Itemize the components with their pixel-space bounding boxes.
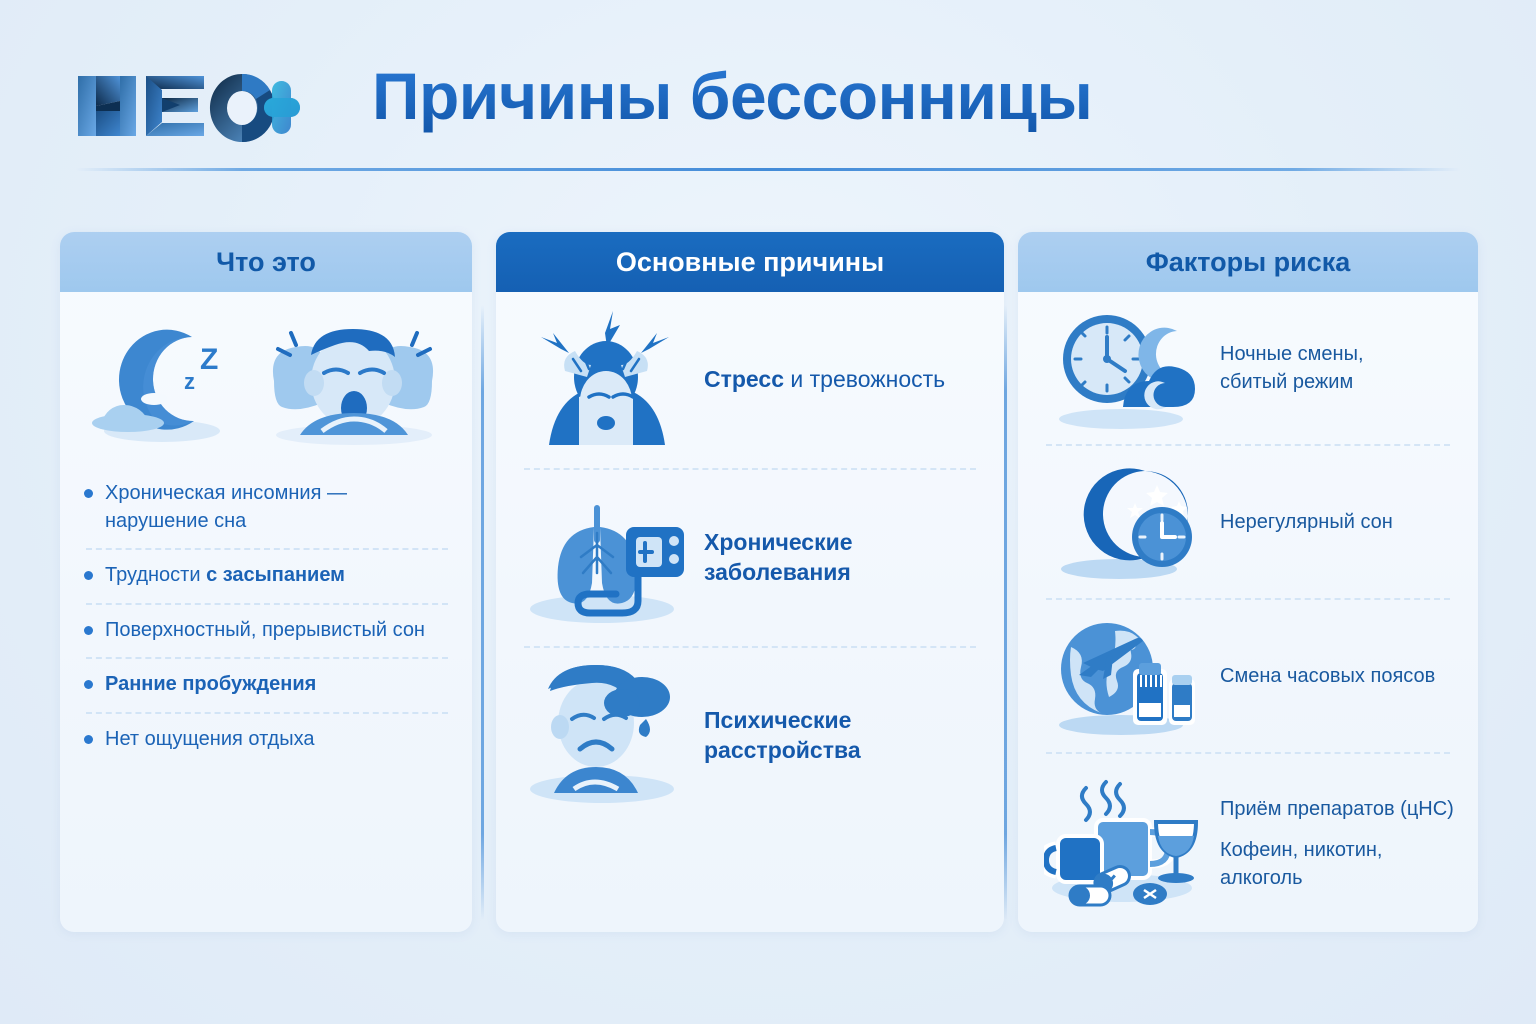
card-what-is: Что это Z z bbox=[60, 232, 472, 932]
risk-label-night-shifts: Ночные смены, сбитый режим bbox=[1220, 340, 1364, 397]
list-item: Ранние пробуждения bbox=[84, 659, 450, 712]
cause-label-chronic: Хронические заболевания bbox=[704, 528, 980, 588]
clock-moon-icon bbox=[1038, 303, 1210, 433]
list-item-label: Хроническая инсомния — нарушение сна bbox=[105, 480, 450, 535]
list-item-label: Поверхностный, прерывистый сон bbox=[105, 617, 450, 645]
card-main-causes: Основные причины bbox=[496, 232, 1004, 932]
column-divider-left bbox=[481, 305, 484, 920]
stressed-head-icon bbox=[516, 305, 698, 455]
list-item: Трудности с засыпанием bbox=[84, 550, 450, 603]
sad-person-cloud-icon bbox=[516, 661, 698, 811]
bullet-dot bbox=[84, 680, 93, 689]
risk-label-timezones: Смена часовых поясов bbox=[1220, 662, 1435, 690]
card-main-causes-header: Основные причины bbox=[496, 232, 1004, 292]
cause-row-mental: Психические расстройства bbox=[496, 648, 1004, 824]
brand-logo bbox=[74, 68, 300, 144]
list-item: Хроническая инсомния — нарушение сна bbox=[84, 468, 450, 548]
bullet-dot bbox=[84, 571, 93, 580]
coffee-wine-pills-icon bbox=[1038, 774, 1210, 914]
what-is-illustration: Z z bbox=[60, 292, 472, 462]
cause-row-chronic: Хронические заболевания bbox=[496, 470, 1004, 646]
card-what-is-header: Что это bbox=[60, 232, 472, 292]
svg-text:Z: Z bbox=[200, 343, 218, 376]
what-is-bullet-list: Хроническая инсомния — нарушение сна Тру… bbox=[60, 462, 472, 767]
cause-row-stress: Стресс и тревожность bbox=[496, 292, 1004, 468]
list-item-label: Трудности с засыпанием bbox=[105, 562, 450, 590]
card-risk-factors-header: Факторы риска bbox=[1018, 232, 1478, 292]
list-item-label: Нет ощущения отдыха bbox=[105, 726, 450, 754]
bullet-dot bbox=[84, 626, 93, 635]
list-item: Поверхностный, прерывистый сон bbox=[84, 605, 450, 658]
risk-label-irregular-sleep: Нерегулярный сон bbox=[1220, 508, 1393, 536]
risk-row-substances: Приём препаратов (цНС) Кофеин, никотин, … bbox=[1018, 754, 1478, 932]
cause-label-stress: Стресс и тревожность bbox=[704, 365, 945, 395]
bullet-dot bbox=[84, 735, 93, 744]
page-title: Причины бессонницы bbox=[372, 58, 1092, 134]
title-divider bbox=[76, 168, 1460, 171]
page-header: Причины бессонницы bbox=[0, 0, 1536, 170]
risk-row-timezones: Смена часовых поясов bbox=[1018, 600, 1478, 752]
risk-row-irregular-sleep: Нерегулярный сон bbox=[1018, 446, 1478, 598]
yawning-person-icon bbox=[266, 311, 441, 451]
cause-label-mental: Психические расстройства bbox=[704, 706, 980, 766]
risk-label-substances: Приём препаратов (цНС) Кофеин, никотин, … bbox=[1220, 795, 1454, 892]
risk-row-night-shifts: Ночные смены, сбитый режим bbox=[1018, 292, 1478, 444]
svg-text:z: z bbox=[184, 369, 195, 394]
globe-plane-pills-icon bbox=[1038, 611, 1210, 741]
lungs-bloodpressure-icon bbox=[516, 483, 698, 633]
moon-zzz-icon: Z z bbox=[92, 311, 252, 451]
column-divider-right bbox=[1004, 305, 1007, 920]
moon-stars-clock-icon bbox=[1038, 457, 1210, 587]
card-risk-factors: Факторы риска bbox=[1018, 232, 1478, 932]
list-item: Нет ощущения отдыха bbox=[84, 714, 450, 767]
list-item-label: Ранние пробуждения bbox=[105, 671, 450, 699]
bullet-dot bbox=[84, 489, 93, 498]
